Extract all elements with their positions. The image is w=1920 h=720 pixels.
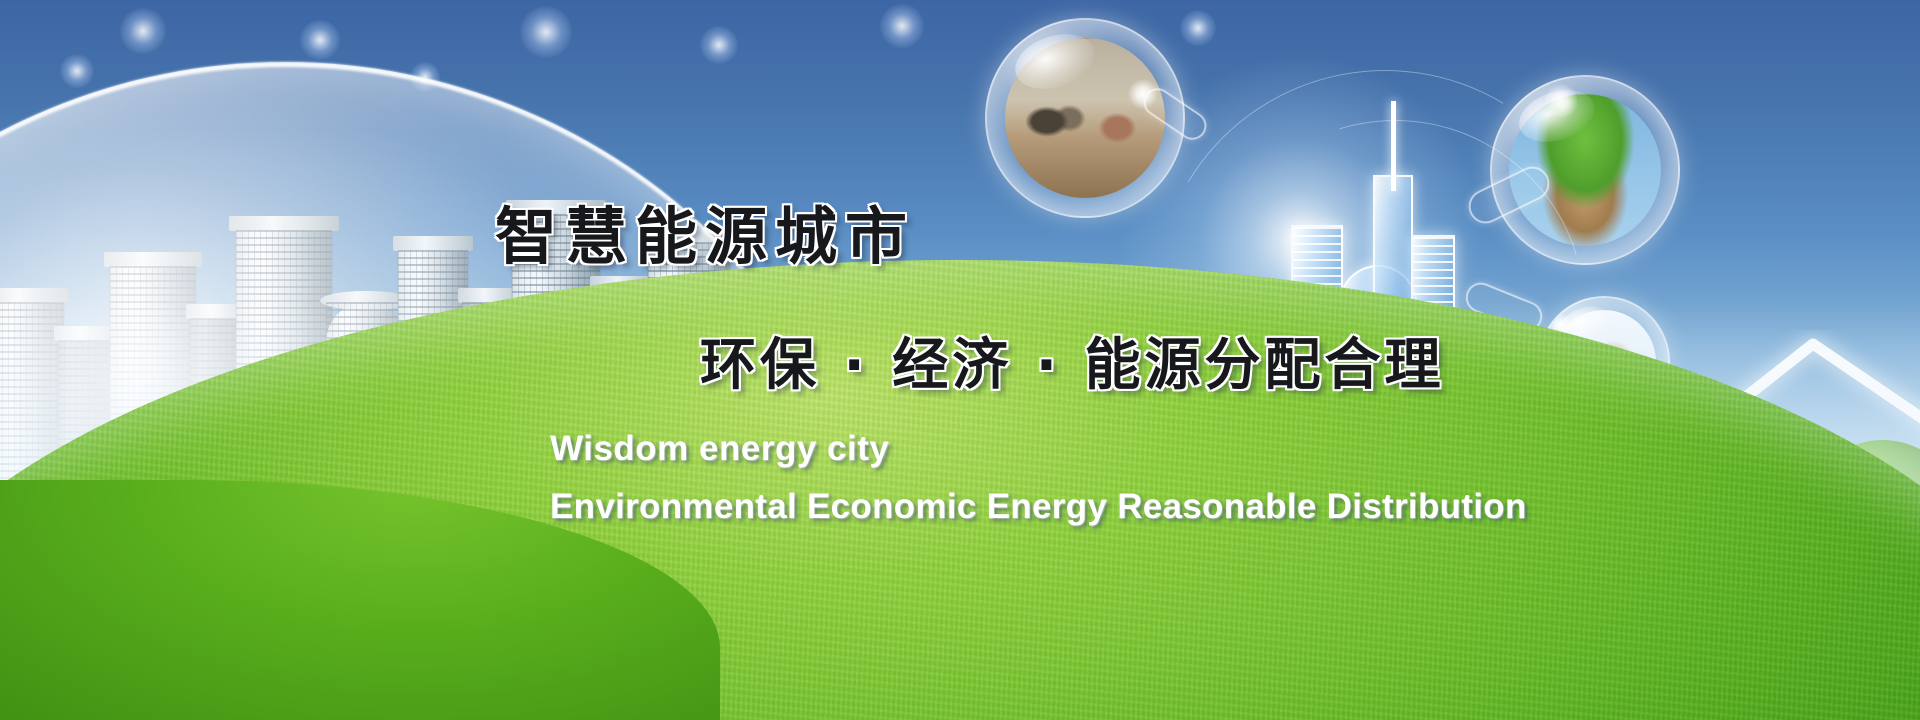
sky-sparkle (60, 54, 94, 88)
sky-sparkle (520, 6, 572, 58)
sky-sparkle (1180, 10, 1216, 46)
energy-city-banner: 智慧能源城市 环保 · 经济 · 能源分配合理 Wisdom energy ci… (0, 0, 1920, 720)
sky-sparkle (410, 62, 440, 92)
sky-sparkle (300, 20, 340, 60)
sky-sparkle (880, 4, 924, 48)
sky-sparkle (120, 8, 166, 54)
sky-sparkle (700, 26, 738, 64)
